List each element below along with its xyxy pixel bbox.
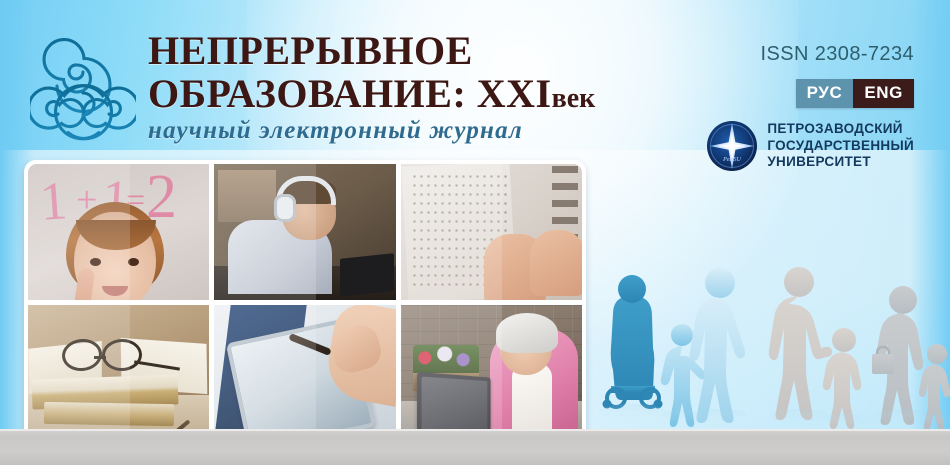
masthead: НЕПРЕРЫВНОЕ ОБРАЗОВАНИЕ: XXIвек научный … [148,30,618,145]
silhouette-wheelchair-user [603,275,663,409]
university-name-line-1: ПЕТРОЗАВОДСКИЙ [767,121,914,138]
language-button-ru[interactable]: РУС [796,79,854,108]
silhouette-reflections [599,404,950,426]
reading-hand-right [530,230,582,296]
photo-hands-reading-braille [401,164,582,300]
photo-girl-math: 1 + 1 = 2 [28,164,209,300]
university-logo-link[interactable]: PetrSU ПЕТРОЗАВОДСКИЙ ГОСУДАРСТВЕННЫЙ УН… [706,120,914,172]
photo-braille-art [401,164,582,300]
journal-title-main: ОБРАЗОВАНИЕ: XXI [148,71,552,116]
people-silhouettes [596,236,950,430]
svg-text:PetrSU: PetrSU [723,157,742,163]
girl-eye-right [128,258,139,266]
journal-banner: НЕПРЕРЫВНОЕ ОБРАЗОВАНИЕ: XXIвек научный … [0,0,950,465]
silhouette-adult-walking [689,268,745,423]
language-button-en[interactable]: ENG [853,79,914,108]
silhouette-parent-with-child [769,267,861,429]
photo-senior-art [401,305,582,441]
chalk-digit-1: 1 [38,169,69,233]
photo-senior-woman-laptop [401,305,582,441]
laptop-device [340,253,394,297]
glasses-bridge [94,356,106,359]
headphone-earcup [274,194,296,222]
university-name-line-2: ГОСУДАРСТВЕННЫЙ [767,138,914,155]
photo-old-books-glasses [28,305,209,441]
university-name: ПЕТРОЗАВОДСКИЙ ГОСУДАРСТВЕННЫЙ УНИВЕРСИТ… [767,121,914,171]
photo-tablet-art [214,305,395,441]
language-switcher[interactable]: РУС ENG [796,79,914,108]
book-stack-lower [44,402,174,426]
senior-hair [496,313,558,353]
shelf-highlight [0,429,950,431]
university-name-line-3: УНИВЕРСИТЕТ [767,154,914,171]
journal-subtitle: научный электронный журнал [148,117,618,145]
silhouette-person-with-bag [872,286,923,425]
petrsu-star-emblem: PetrSU [706,120,758,172]
photo-collage: 1 + 1 = 2 [24,160,586,445]
photo-man-headphones-computer [214,164,395,300]
photo-girl-math-art: 1 + 1 = 2 [28,164,209,300]
banner-header: НЕПРЕРЫВНОЕ ОБРАЗОВАНИЕ: XXIвек научный … [0,0,950,158]
background-window [218,170,276,222]
journal-title-line-1: НЕПРЕРЫВНОЕ [148,30,618,71]
journal-title-century: век [552,83,596,114]
journal-title-line-2: ОБРАЗОВАНИЕ: XXIвек [148,73,618,114]
bottom-shelf [0,429,950,465]
issn-label: ISSN 2308-7234 [761,43,914,66]
girl-eye-left [90,258,101,266]
photo-books-art [28,305,209,441]
photo-hands-tablet-stylus [214,305,395,441]
photo-headset-art [214,164,395,300]
triskelion-logo[interactable] [30,38,136,146]
